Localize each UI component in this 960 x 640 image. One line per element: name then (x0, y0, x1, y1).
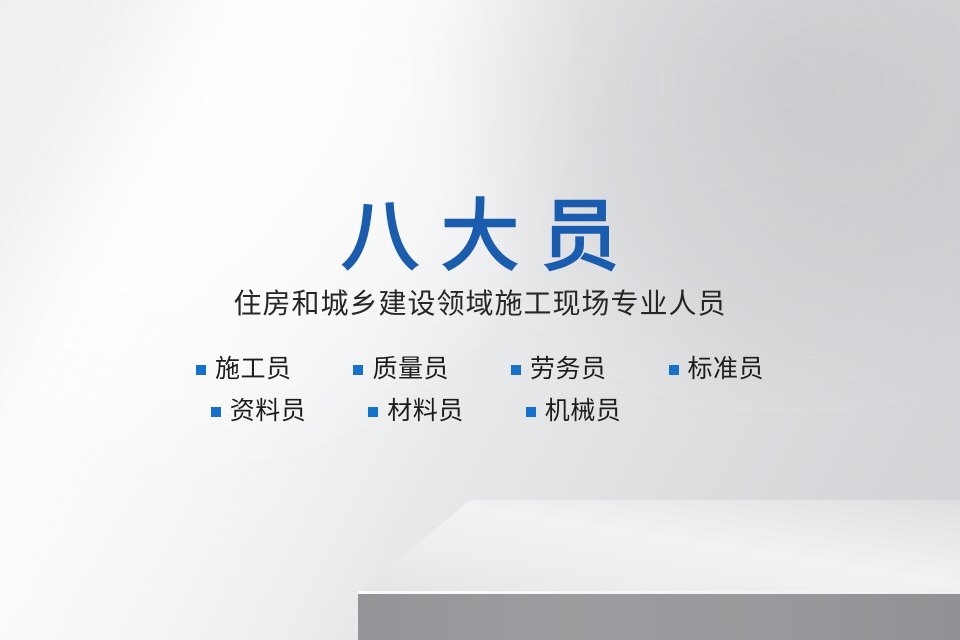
podium-platform (0, 470, 960, 640)
podium-top-surface (358, 500, 960, 594)
podium-top-lip (358, 591, 960, 594)
podium-shape-icon (0, 470, 960, 640)
podium-front-face (358, 594, 960, 640)
poster-canvas: 八大员 住房和城乡建设领域施工现场专业人员 施工员 质量员 劳务员 (0, 0, 960, 640)
